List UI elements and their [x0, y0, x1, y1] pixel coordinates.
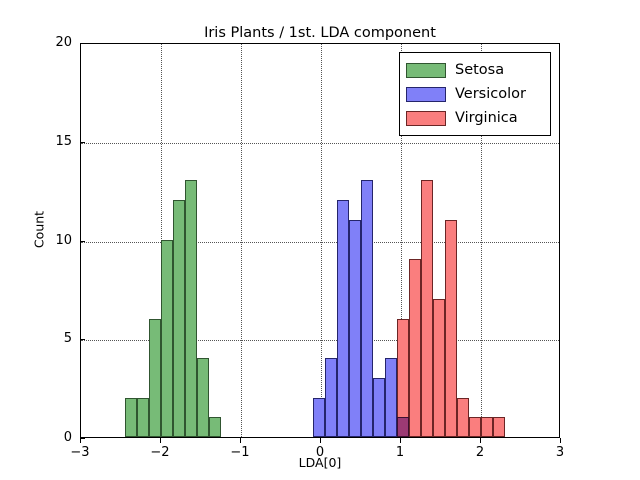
histogram-bar-virginica — [421, 180, 433, 437]
histogram-bar-virginica — [433, 299, 445, 437]
legend-item-virginica: Virginica — [406, 106, 544, 130]
histogram-bar-setosa — [173, 200, 185, 437]
y-tick-label: 5 — [38, 331, 72, 346]
histogram-bar-virginica — [493, 417, 505, 437]
histogram-bar-setosa — [209, 417, 221, 437]
x-axis-label: LDA[0] — [80, 455, 560, 470]
legend-label: Setosa — [455, 62, 504, 78]
chart-title: Iris Plants / 1st. LDA component — [80, 25, 560, 41]
histogram-bar-versicolor — [337, 200, 349, 437]
y-tick-label: 20 — [38, 35, 72, 50]
legend-item-setosa: Setosa — [406, 58, 544, 82]
histogram-bar-setosa — [149, 319, 161, 438]
histogram-bar-versicolor — [373, 378, 385, 437]
histogram-bar-setosa — [137, 398, 149, 438]
legend-swatch-virginica — [406, 111, 446, 126]
x-tick-mark — [400, 438, 401, 443]
y-tick-label: 15 — [38, 134, 72, 149]
matplotlib-figure: Iris Plants / 1st. LDA component 0510152… — [0, 0, 640, 480]
legend-item-versicolor: Versicolor — [406, 82, 544, 106]
histogram-bar-setosa — [197, 358, 209, 437]
x-tick-mark — [560, 438, 561, 443]
legend-label: Virginica — [455, 110, 518, 126]
histogram-bar-setosa — [185, 180, 197, 437]
histogram-bar-versicolor — [385, 358, 397, 437]
histogram-bar-versicolor — [361, 180, 373, 437]
histogram-bar-versicolor — [313, 398, 325, 438]
y-tick-mark — [80, 142, 85, 143]
x-tick-mark — [160, 438, 161, 443]
histogram-bar-virginica — [469, 417, 481, 437]
x-tick-mark — [480, 438, 481, 443]
gridline-horizontal — [81, 242, 559, 243]
y-tick-mark — [80, 241, 85, 242]
gridline-vertical — [321, 44, 322, 437]
legend-swatch-setosa — [406, 63, 446, 78]
legend-swatch-versicolor — [406, 87, 446, 102]
histogram-bar-virginica — [481, 417, 493, 437]
gridline-vertical — [241, 44, 242, 437]
x-tick-mark — [240, 438, 241, 443]
y-axis-label: Count — [32, 185, 47, 275]
histogram-bar-virginica — [445, 220, 457, 437]
x-tick-mark — [80, 438, 81, 443]
gridline-horizontal — [81, 143, 559, 144]
legend-label: Versicolor — [455, 86, 526, 102]
histogram-bar-setosa — [161, 240, 173, 438]
legend: SetosaVersicolorVirginica — [399, 52, 551, 136]
y-tick-mark — [80, 43, 85, 44]
histogram-bar-virginica — [409, 259, 421, 437]
y-tick-mark — [80, 339, 85, 340]
histogram-bar-versicolor — [325, 358, 337, 437]
histogram-bar-virginica — [457, 398, 469, 438]
histogram-bar-versicolor — [349, 220, 361, 437]
x-tick-mark — [320, 438, 321, 443]
histogram-bar-setosa — [125, 398, 137, 438]
histogram-bar-overlap — [397, 417, 409, 437]
y-tick-label: 0 — [38, 430, 72, 445]
